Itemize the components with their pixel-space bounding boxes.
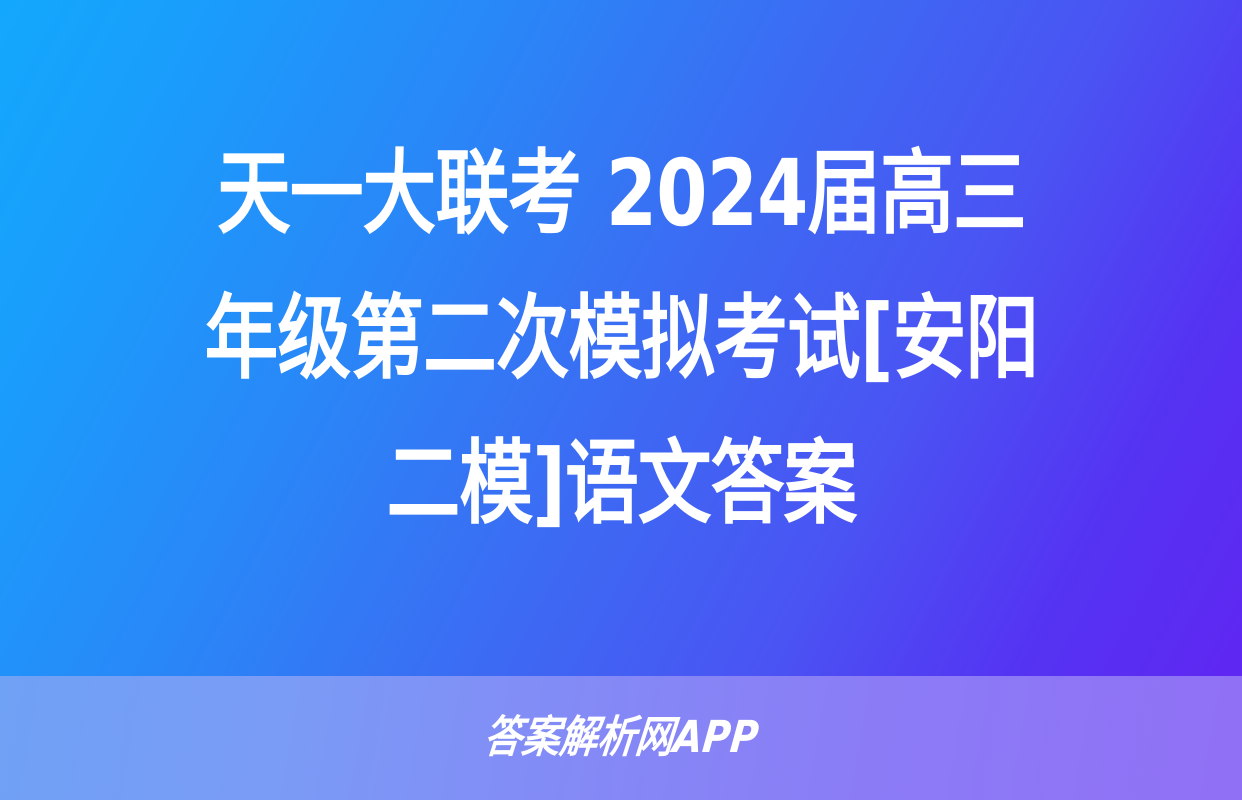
hero-banner: 天一大联考 2024届高三年级第二次模拟考试[安阳二模]语文答案 [0, 0, 1242, 676]
app-watermark-label: 答案解析网APP [482, 716, 761, 760]
page-title: 天一大联考 2024届高三年级第二次模拟考试[安阳二模]语文答案 [187, 121, 1055, 556]
watermark-band: 答案解析网APP [0, 676, 1242, 800]
poster-card: 天一大联考 2024届高三年级第二次模拟考试[安阳二模]语文答案 答案解析网AP… [0, 0, 1242, 800]
